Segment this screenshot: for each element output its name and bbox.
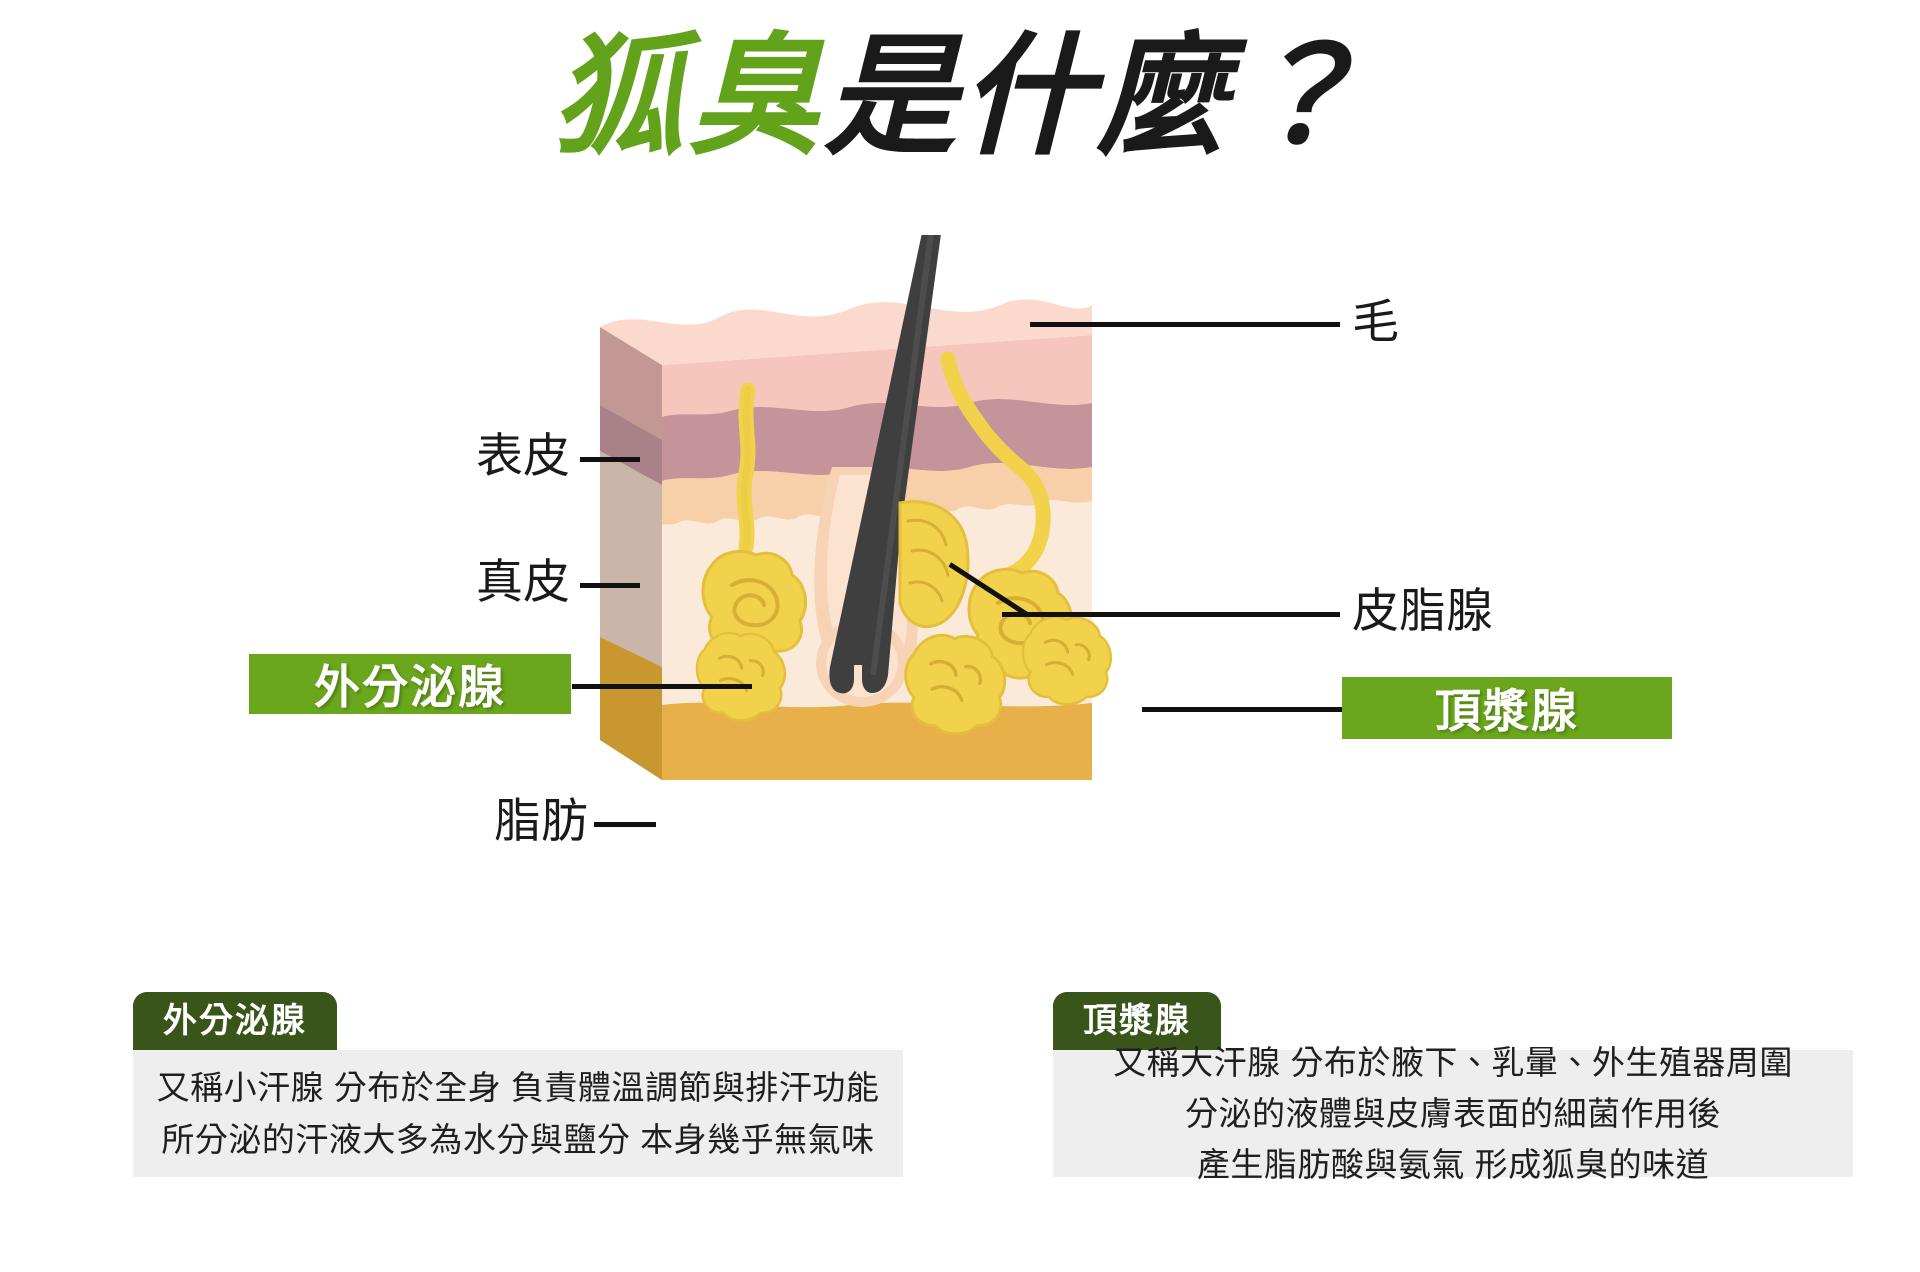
sebaceous-gland-shape <box>900 502 968 627</box>
callout-label-apocrine-gland: 頂漿腺 <box>1342 677 1672 739</box>
infographic-root: 狐臭是什麼？ <box>0 0 1920 1272</box>
skin-block-side-face <box>600 327 662 780</box>
leader-line-dermis <box>580 583 640 588</box>
info-card-apocrine: 頂漿腺 又稱大汗腺 分布於腋下、乳暈、外生殖器周圍 分泌的液體與皮膚表面的細菌作… <box>1053 992 1853 1177</box>
eccrine-green-label-text: 外分泌腺 <box>314 651 506 717</box>
leader-line-hair <box>1030 322 1340 327</box>
info-card-apocrine-text: 又稱大汗腺 分布於腋下、乳暈、外生殖器周圍 分泌的液體與皮膚表面的細菌作用後 產… <box>1113 1037 1793 1190</box>
leader-line-sebaceous-h <box>1002 612 1340 617</box>
leader-line-epidermis <box>580 457 640 462</box>
leader-line-eccrine <box>572 684 752 689</box>
leader-line-apocrine <box>1142 707 1342 712</box>
info-card-apocrine-body: 又稱大汗腺 分布於腋下、乳暈、外生殖器周圍 分泌的液體與皮膚表面的細菌作用後 產… <box>1053 1050 1853 1177</box>
callout-label-fat: 脂肪 <box>440 797 588 844</box>
callout-label-dermis: 真皮 <box>440 558 570 605</box>
skin-diagram: 毛 表皮 真皮 皮脂腺 脂肪 外分泌腺 頂漿腺 <box>0 0 1920 1010</box>
callout-label-eccrine-gland: 外分泌腺 <box>249 654 571 714</box>
info-card-eccrine-text: 又稱小汗腺 分布於全身 負責體溫調節與排汗功能 所分泌的汗液大多為水分與鹽分 本… <box>157 1062 880 1164</box>
skin-block-illustration <box>600 235 1160 795</box>
info-card-eccrine-body: 又稱小汗腺 分布於全身 負責體溫調節與排汗功能 所分泌的汗液大多為水分與鹽分 本… <box>133 1050 903 1177</box>
info-card-eccrine-tab-text: 外分泌腺 <box>163 1002 307 1040</box>
leader-line-fat <box>594 822 656 827</box>
callout-label-epidermis: 表皮 <box>440 432 570 479</box>
callout-label-hair: 毛 <box>1352 298 1399 345</box>
info-card-eccrine: 外分泌腺 又稱小汗腺 分布於全身 負責體溫調節與排汗功能 所分泌的汗液大多為水分… <box>133 992 903 1177</box>
info-card-eccrine-tab: 外分泌腺 <box>133 992 337 1053</box>
callout-label-sebaceous-gland: 皮脂腺 <box>1352 587 1493 634</box>
info-card-apocrine-tab-text: 頂漿腺 <box>1083 1002 1191 1040</box>
apocrine-green-label-text: 頂漿腺 <box>1435 675 1579 741</box>
